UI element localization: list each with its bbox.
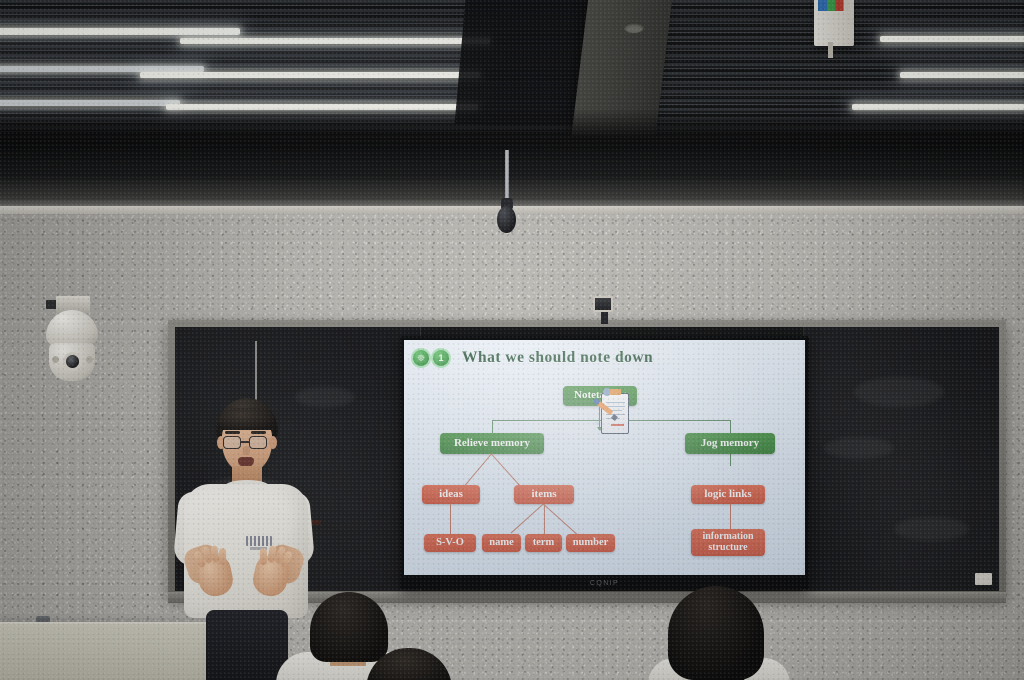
node-term: term [525,534,562,552]
device-mount-stem [828,42,833,58]
presenter-mouth-inner [311,520,321,525]
ceiling-tube-light [900,72,1024,78]
glasses-lens [249,436,267,449]
blackboard-panel-right [803,327,999,591]
ceiling-tube-light [0,100,180,106]
connector-items-to-term [544,504,545,535]
ceiling-tube-light [180,38,490,44]
glasses-bridge [241,441,249,443]
ceiling-tube-light [880,36,1024,42]
decorative-dot [595,421,599,425]
student-front-left [310,592,388,662]
connector-items-to-name [511,503,544,533]
ceiling-tube-light [0,28,240,35]
mind-map-diagram: Notetaking Relieve memory Jog memory [404,378,805,575]
node-svo: S-V-O [424,534,476,552]
node-name: name [482,534,521,552]
wall-mounted-display[interactable]: ☸ 1 What we should note down Notetaking [400,336,809,589]
chalk-smudge [894,517,969,541]
connector-ideas-to-svo [450,504,451,535]
presenter-hair-front [218,408,276,430]
node-ideas: ideas [422,485,480,504]
node-relieve-memory: Relieve memory [440,433,544,454]
device-indicator-lights [818,0,850,11]
chalk-smudge [854,377,944,407]
presenter-nose [243,446,250,455]
tshirt-print [246,536,272,546]
microphone-head [497,206,516,233]
shield-icon: ☸ [413,350,429,366]
camera-lens-icon [63,352,82,371]
connector-logic-to-information [730,504,731,530]
presenter-ear [269,436,277,449]
slide-header: ☸ 1 What we should note down [413,349,653,367]
chalk-smudge [824,437,894,459]
shield-icon-glyph: ☸ [417,354,425,363]
finger [260,548,267,565]
presenter-trousers [206,610,288,680]
node-information-structure-line1: information [702,532,753,543]
presenter-eyebrow [251,431,266,434]
clipboard-underline [611,424,624,426]
ceiling-shadow-gradient [0,108,1024,154]
beam-speaker-hole [624,22,644,33]
finger [219,548,226,565]
camera-ir-led [86,356,93,363]
camera-ir-led [52,356,59,363]
node-number: number [566,534,615,552]
recording-camera-icon [593,296,613,312]
node-information-structure: information structure [691,529,765,556]
microphone-rod [505,150,509,202]
clipboard-with-pencil-icon [591,388,631,436]
node-jog-memory: Jog memory [685,433,775,454]
ceiling-tube-light [140,72,480,78]
node-items: items [514,485,574,504]
presenter [168,396,324,680]
slide-number-badge: 1 [433,350,449,366]
clipboard-clip [610,389,621,395]
presenter-eyebrow [225,431,240,434]
connector-bus-left-leg [492,420,493,433]
slide-number-label: 1 [438,354,443,363]
equipment-label [975,573,992,585]
clipboard-text-line [606,402,625,403]
presentation-slide: ☸ 1 What we should note down Notetaking [404,340,805,575]
slide-title: What we should note down [462,349,653,367]
display-brand-logo: CQNIP [590,580,619,587]
node-information-structure-line2: structure [708,543,747,554]
glasses-lens [223,436,241,449]
node-logic-links: logic links [691,485,765,504]
student-front-right [668,586,764,680]
classroom-photo: ☸ 1 What we should note down Notetaking [0,0,1024,680]
